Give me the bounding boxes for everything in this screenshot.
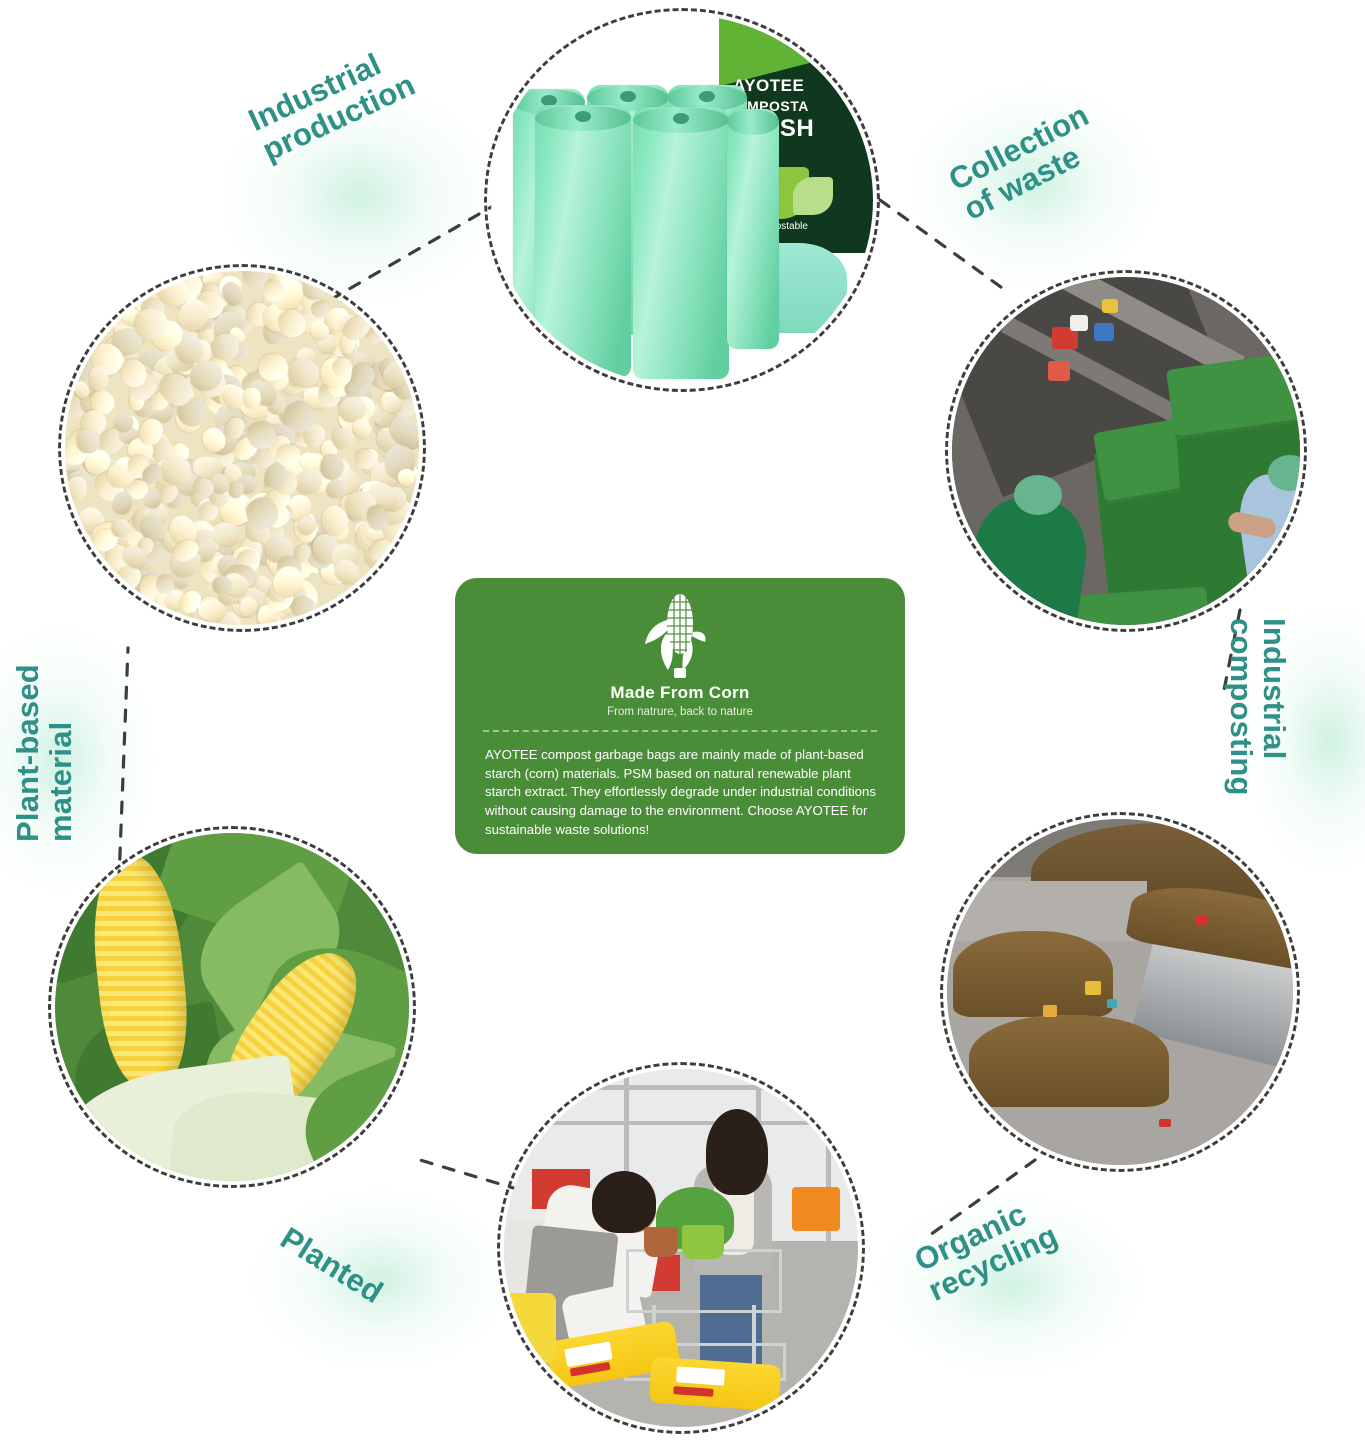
made-from-corn-card: Made From Corn From natrure, back to nat… (455, 578, 905, 854)
card-subtitle: From natrure, back to nature (455, 706, 905, 718)
planted-photo (48, 826, 416, 1188)
infographic-canvas: AYOTEE COMPOSTA TRASH Compostable (0, 0, 1365, 1444)
film-roll (535, 105, 631, 377)
hanging-orange-bag (792, 1187, 840, 1231)
card-divider (483, 730, 877, 732)
compost-pile (953, 931, 1113, 1017)
label-plant-based-material: Plant-based material (12, 602, 78, 842)
organic-recycling-photo (497, 1062, 865, 1434)
resin-pellet (68, 476, 88, 499)
resin-pellet (303, 276, 327, 300)
resin-pellet (88, 364, 109, 391)
collection-of-waste-photo (945, 270, 1307, 632)
resin-pellet (275, 444, 301, 466)
plant-based-material-photo (58, 264, 426, 632)
leaf-badge-icon-2 (793, 177, 833, 215)
resin-pellet (156, 575, 175, 595)
card-body-text: AYOTEE compost garbage bags are mainly m… (485, 746, 879, 840)
plant-pot (682, 1225, 724, 1259)
card-title: Made From Corn (455, 683, 905, 703)
film-roll (727, 109, 779, 349)
industrial-composting-photo (940, 812, 1300, 1172)
industrial-production-photo: AYOTEE COMPOSTA TRASH Compostable (484, 8, 880, 392)
resin-pellet (244, 388, 261, 409)
resin-pellet (288, 358, 319, 387)
compost-pile (969, 1015, 1169, 1107)
worker-hair (592, 1171, 656, 1233)
soil-bag (649, 1357, 782, 1412)
film-roll (633, 107, 729, 379)
label-industrial-composting: Industrial composting (1224, 618, 1290, 858)
pellet-field (65, 271, 419, 625)
resin-pellet (248, 422, 276, 449)
worker-cap (1014, 475, 1062, 515)
customer-hair (706, 1109, 768, 1195)
corn-icon (641, 590, 719, 682)
